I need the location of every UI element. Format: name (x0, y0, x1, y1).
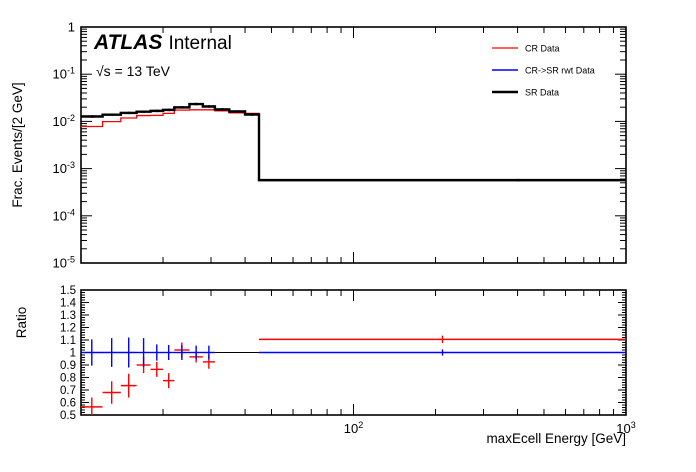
data-point-marker (91, 115, 93, 117)
y-axis-tick-label: 10-5 (53, 255, 75, 271)
atlas-status-text: Internal (168, 33, 231, 54)
ratio-y-axis-tick-label: 1.3 (60, 310, 76, 322)
x-axis-tick-label: 102 (344, 420, 363, 436)
ratio-y-axis-tick-label: 1 (70, 348, 76, 360)
ratio-y-axis-tick-label: 1.2 (60, 323, 76, 335)
data-point-marker (111, 113, 113, 115)
data-point-marker (251, 113, 253, 115)
atlas-bold-text: ATLAS (93, 31, 162, 54)
ratio-y-axis-title: Ratio (14, 307, 29, 339)
ratio-y-axis-tick-label: 0.9 (60, 360, 76, 372)
data-point-marker (181, 106, 183, 108)
data-point-marker (168, 109, 170, 111)
legend-label-1: CR Data (525, 44, 560, 54)
ratio-y-axis-tick-label: 1.1 (60, 335, 76, 347)
legend-label-3: SR Data (525, 88, 559, 98)
ratio-plot-panel: 1.51.41.31.21.110.90.80.70.60.5 (60, 285, 626, 422)
data-point-marker (195, 103, 197, 105)
y-axis-tick-label: 10-2 (53, 113, 75, 129)
data-point-marker (156, 110, 158, 112)
y-axis-tick-label: 1 (68, 20, 75, 35)
ratio-y-axis-tick-label: 1.5 (60, 285, 76, 297)
legend-label-2: CR->SR rwt Data (525, 66, 595, 76)
y-axis-tick-label: 10-3 (53, 160, 75, 176)
center-of-mass-energy-label: √s = 13 TeV (96, 63, 171, 79)
plot-canvas: 110-110-210-310-410-5 1.51.41.31.21.110.… (0, 0, 696, 472)
atlas-histogram-figure: 110-110-210-310-410-5 1.51.41.31.21.110.… (0, 0, 696, 472)
data-point-marker (128, 112, 130, 114)
y-axis-tick-label: 10-4 (53, 207, 75, 223)
ratio-y-axis-tick-label: 0.6 (60, 398, 76, 410)
x-axis-title: maxEcell Energy [GeV] (486, 431, 626, 446)
y-axis-title: Frac. Events/[2 GeV] (10, 82, 25, 207)
data-point-marker (143, 110, 145, 112)
legend-group: CR DataCR->SR rwt DataSR Data (492, 44, 595, 98)
data-point-marker (516, 179, 518, 181)
main-plot-panel: 110-110-210-310-410-5 (53, 20, 626, 271)
data-point-marker (208, 105, 210, 107)
y-axis-tick-label: 10-1 (53, 66, 75, 82)
atlas-label-group: ATLASInternal (93, 31, 232, 54)
data-point-marker (221, 108, 223, 110)
data-point-marker (236, 110, 238, 112)
ratio-y-axis-tick-label: 0.8 (60, 373, 76, 385)
histogram-series-1 (81, 110, 626, 180)
ratio-y-axis-tick-label: 0.7 (60, 385, 76, 397)
ratio-y-axis-tick-label: 0.5 (60, 410, 76, 422)
ratio-y-axis-tick-label: 1.4 (60, 298, 77, 310)
